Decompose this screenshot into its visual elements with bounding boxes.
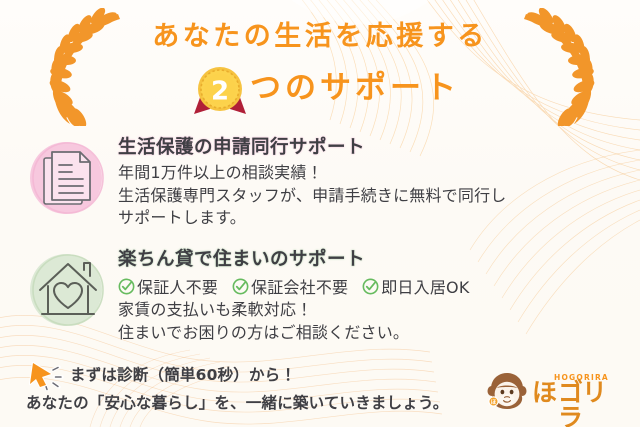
headline-secondary: つのサポート (250, 71, 460, 105)
check-circle-icon (232, 278, 249, 295)
logo-wordmark: HOGORIRA ほ ゴリラ (532, 374, 626, 408)
footer-text-block: まずは診断（簡単60秒）から！ あなたの「安心な暮らし」を、一緒に築いていきまし… (26, 361, 449, 413)
feature-list: 生活保護の申請同行サポート 年間1万件以上の相談実績！ 生活保護専門スタッフが、… (0, 132, 640, 345)
check-circle-icon (118, 278, 135, 295)
documents-icon (26, 134, 110, 222)
check-item-label: 即日入居OK (381, 274, 469, 298)
footer-line-1: まずは診断（簡単60秒）から！ (70, 363, 296, 385)
feature-title: 生活保護の申請同行サポート (118, 136, 628, 159)
footer-line-2: あなたの「安心な暮らし」を、一緒に築いていきましょう。 (26, 391, 449, 413)
click-cursor-icon (26, 361, 66, 391)
support-banner: あなたの生活を応援する 2 つのサポート (0, 0, 640, 427)
feature-body: 生活保護の申請同行サポート 年間1万件以上の相談実績！ 生活保護専門スタッフが、… (118, 132, 628, 230)
check-circle-icon (362, 278, 379, 295)
headline-secondary-row: 2 つのサポート (0, 58, 640, 118)
headline-primary: あなたの生活を応援する (0, 22, 640, 52)
banner-footer: まずは診断（簡単60秒）から！ あなたの「安心な暮らし」を、一緒に築いていきまし… (0, 361, 640, 413)
feature-line: 住まいでお困りの方はご相談ください。 (118, 322, 628, 345)
feature-line: 年間1万件以上の相談実績！ (118, 162, 628, 185)
check-item: 即日入居OK (362, 274, 469, 298)
feature-line: 生活保護専門スタッフが、申請手続きに無料で同行し (118, 185, 628, 208)
medal-number: 2 (211, 76, 229, 106)
house-heart-icon (26, 246, 110, 334)
feature-line: サポートします。 (118, 207, 628, 230)
footer-line-1-row: まずは診断（簡単60秒）から！ (26, 361, 449, 387)
feature-line: 家賃の支払いも柔軟対応！ (118, 299, 628, 322)
brand-logo[interactable]: ほ HOGORIRA ほ ゴリラ (485, 371, 626, 411)
gold-medal-icon: 2 (190, 58, 250, 118)
gorilla-mascot-icon: ほ (485, 371, 529, 411)
feature-check-row: 保証人不要 保証会社不要 即日入居OK (118, 274, 628, 298)
check-item: 保証会社不要 (232, 274, 348, 298)
logo-kana-text: ほ ゴリラ (532, 380, 626, 408)
check-item-label: 保証会社不要 (251, 274, 348, 298)
logo-badge-kana: ほ (491, 399, 497, 406)
check-item-label: 保証人不要 (137, 274, 218, 298)
logo-kana-gorira: ゴリラ (558, 380, 626, 427)
feature-title: 楽ちん貸で住まいのサポート (118, 248, 628, 271)
check-item: 保証人不要 (118, 274, 218, 298)
feature-item-welfare-application: 生活保護の申請同行サポート 年間1万件以上の相談実績！ 生活保護専門スタッフが、… (26, 132, 628, 230)
feature-item-housing-support: 楽ちん貸で住まいのサポート 保証人不要 保 (26, 244, 628, 345)
feature-body: 楽ちん貸で住まいのサポート 保証人不要 保 (118, 244, 628, 345)
logo-kana-ho: ほ (532, 380, 557, 405)
banner-header: あなたの生活を応援する 2 つのサポート (0, 0, 640, 118)
